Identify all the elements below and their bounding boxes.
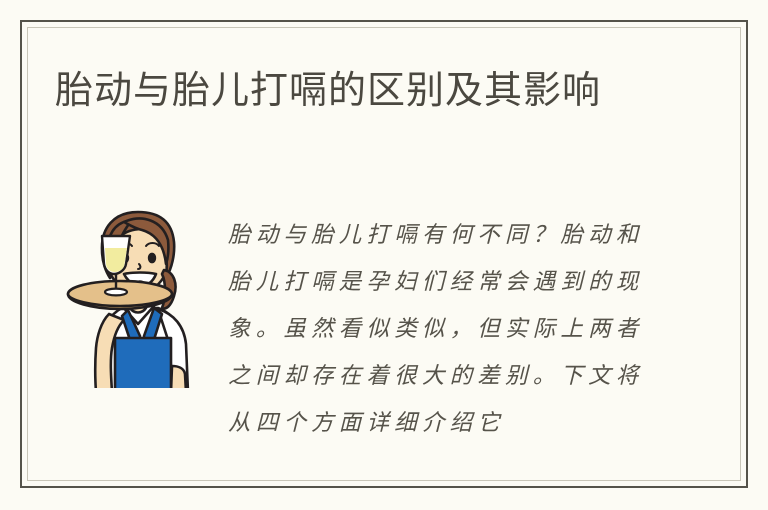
article-body-text: 胎动与胎儿打嗝有何不同？胎动和胎儿打嗝是孕妇们经常会遇到的现象。虽然看似类似，但… [228,212,648,447]
page-canvas: 胎动与胎儿打嗝的区别及其影响 [0,0,768,510]
page-title: 胎动与胎儿打嗝的区别及其影响 [55,66,601,114]
waitress-with-tray-illustration [52,196,212,388]
